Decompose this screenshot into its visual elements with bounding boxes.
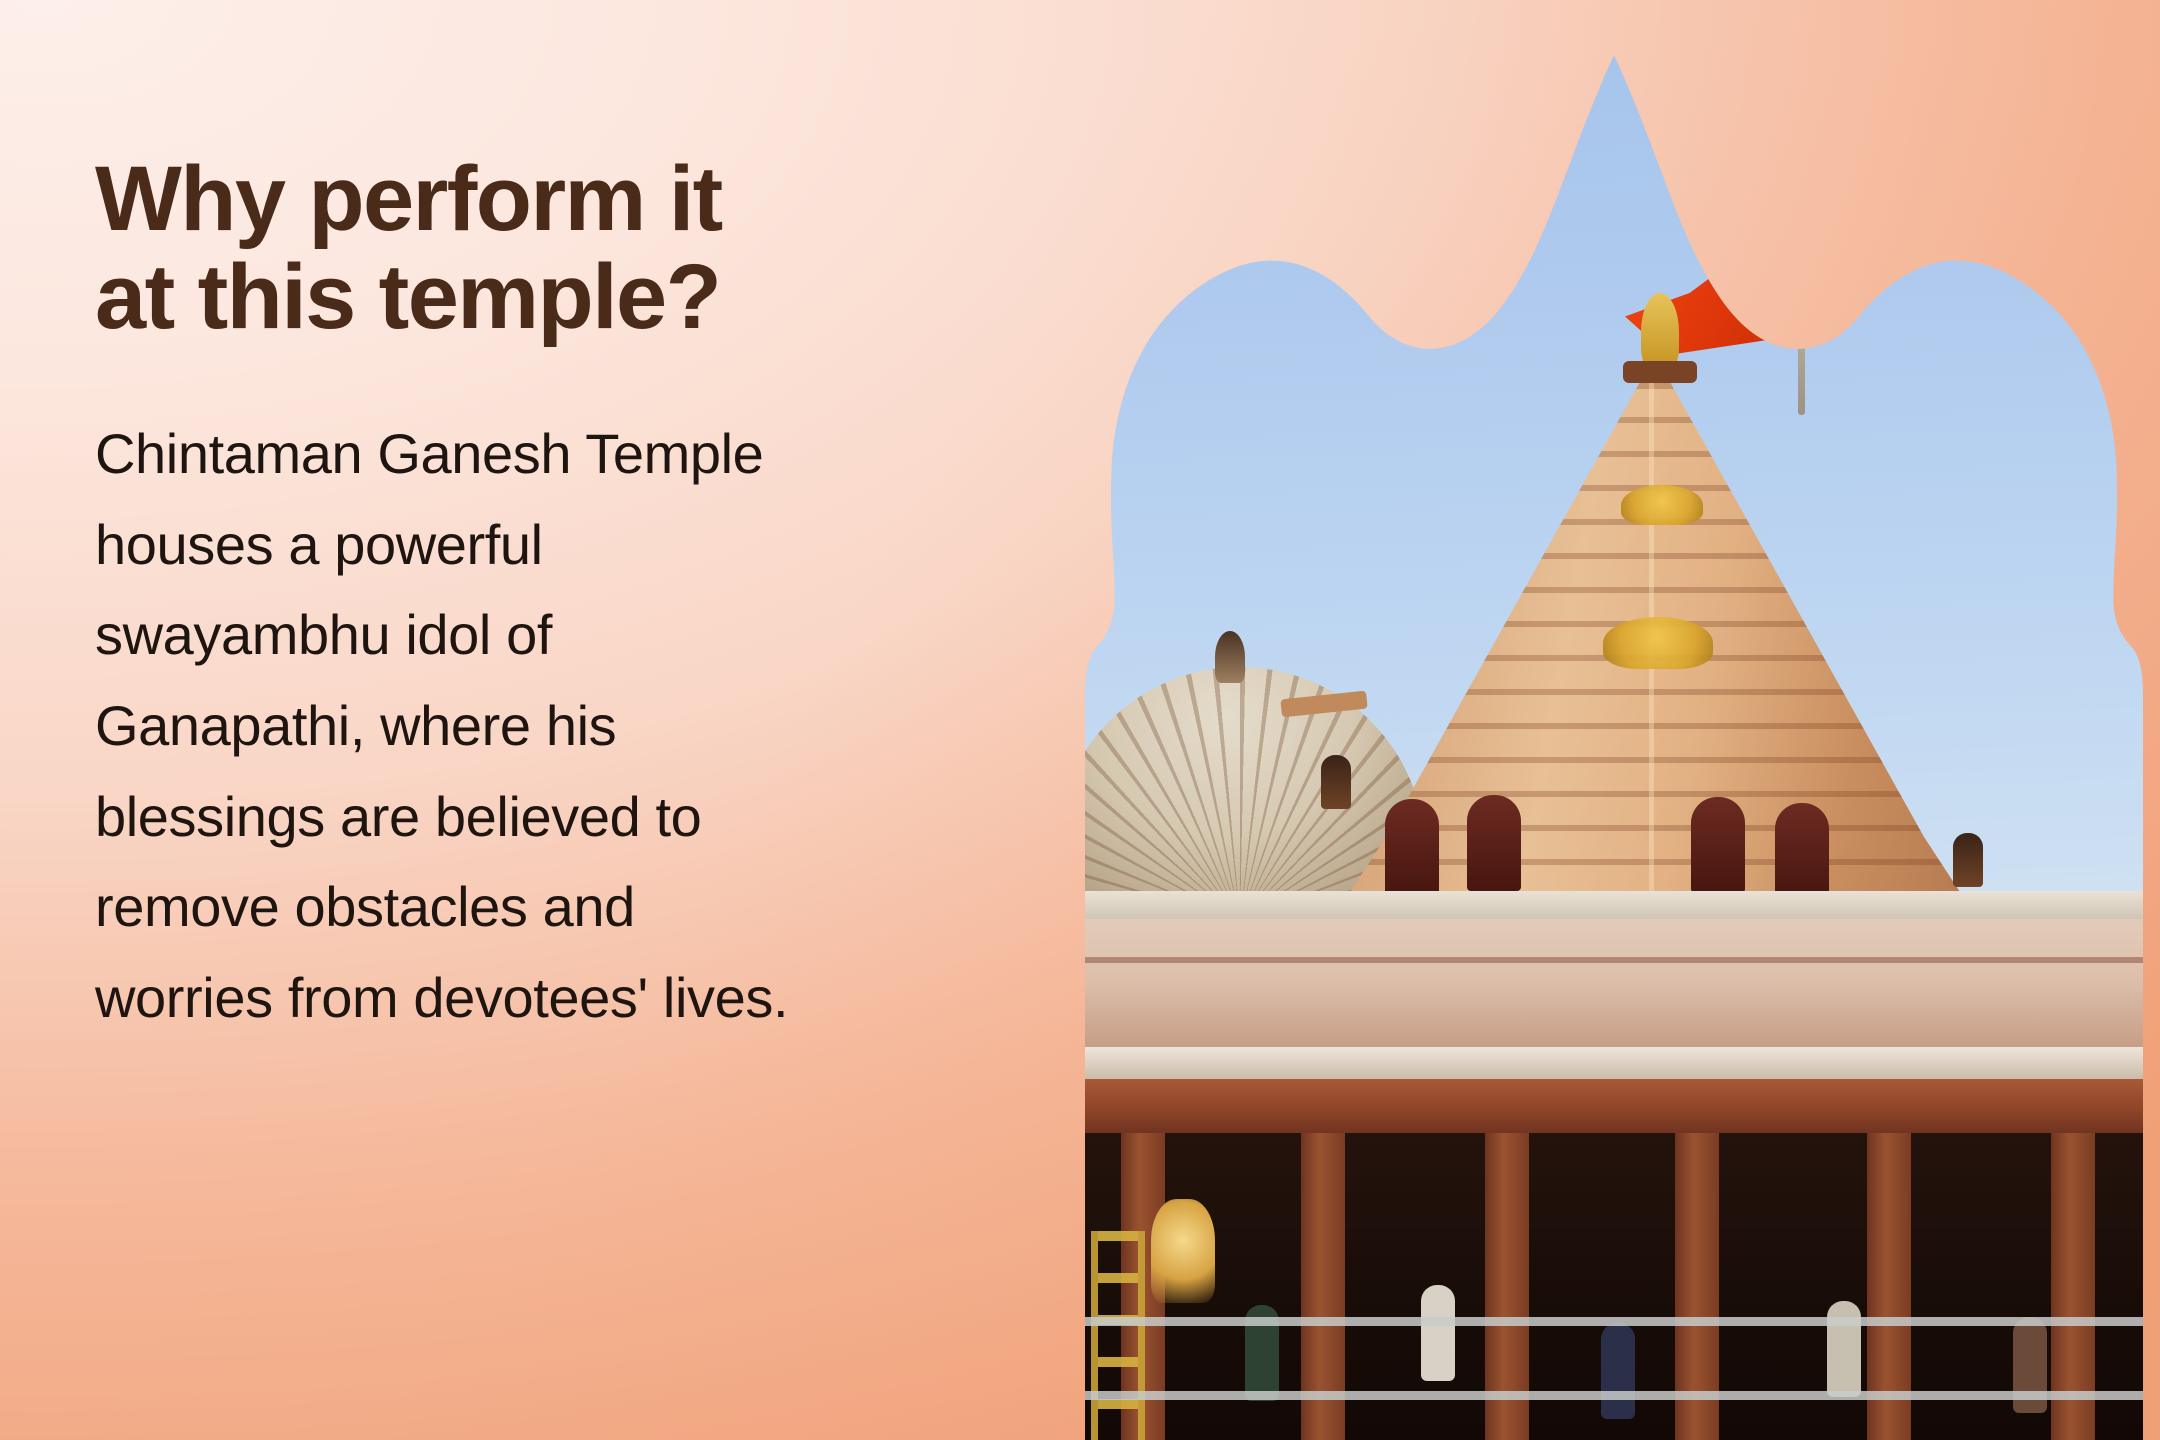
gold-ornament	[1603, 617, 1713, 669]
devotee-figure	[1827, 1301, 1861, 1397]
flag-pole-tip	[1793, 195, 1810, 221]
body-paragraph: Chintaman Ganesh Temple houses a powerfu…	[95, 409, 1055, 1044]
mandapa-parapet	[1085, 919, 2143, 1047]
text-column: Why perform it at this temple? Chintaman…	[95, 150, 1055, 1044]
parapet-moulding	[1085, 957, 2143, 963]
devotee-figure	[1421, 1285, 1455, 1381]
info-card: Why perform it at this temple? Chintaman…	[0, 0, 2160, 1440]
devotee-figure	[1601, 1323, 1635, 1419]
tower-niche	[1691, 797, 1745, 893]
corner-figure	[1321, 755, 1351, 809]
temple-photo-panel	[1085, 55, 2143, 1440]
gold-ornament	[1621, 485, 1703, 525]
entrance-railing	[1085, 1391, 2143, 1400]
temple-photo	[1085, 55, 2143, 1440]
mandapa-cornice	[1085, 1047, 2143, 1081]
kalash-base	[1623, 361, 1697, 383]
shrine-lamp-glow	[1151, 1199, 1215, 1303]
mandapa-roof-slab	[1085, 891, 2143, 921]
tower-niche	[1385, 799, 1439, 895]
flag-pole	[1798, 207, 1805, 415]
kalash-finial-icon	[1641, 293, 1679, 371]
tower-niche	[1775, 803, 1829, 899]
dome-finial	[1215, 631, 1245, 683]
page-title: Why perform it at this temple?	[95, 150, 1055, 347]
entrance-railing	[1085, 1317, 2143, 1326]
mandapa-eave	[1085, 1079, 2143, 1135]
tower-niche	[1467, 795, 1521, 891]
scaffold-ladder	[1091, 1231, 1145, 1440]
corner-figure	[1953, 833, 1983, 887]
